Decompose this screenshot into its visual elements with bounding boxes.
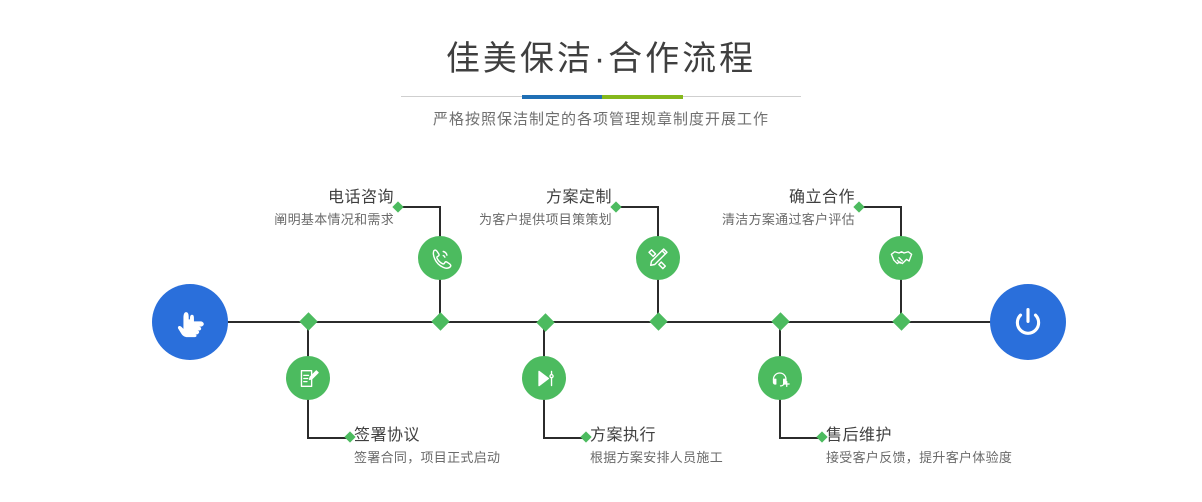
document-sign-icon [296,366,321,391]
connector-horizontal-step-5 [859,206,901,208]
step-node-5[interactable] [879,236,923,280]
play-execute-icon [532,366,557,391]
axis-marker-step-6 [771,312,789,330]
handshake-icon [888,245,915,272]
step-title-3: 方案定制 [350,188,612,208]
axis-marker-step-5 [892,312,910,330]
step-label-3: 方案定制 为客户提供项目策策划 [350,188,612,230]
step-node-1[interactable] [418,236,462,280]
axis-marker-step-2 [299,312,317,330]
connector-horizontal-step-1 [398,206,440,208]
customer-service-add-icon [768,366,793,391]
label-marker-step-5 [853,201,864,212]
flowchart-page: 佳美保洁·合作流程 严格按照保洁制定的各项管理规章制度开展工作 [0,0,1202,502]
title-divider [401,95,801,99]
step-title-5: 确立合作 [590,188,855,208]
step-title-6: 售后维护 [826,426,1126,446]
divider-segment-green [602,95,683,99]
page-title: 佳美保洁·合作流程 [0,0,1202,76]
hand-pointing-icon [169,301,211,343]
connector-horizontal-step-6 [779,437,821,439]
divider-segment-blue [522,95,602,99]
step-desc-6: 接受客户反馈，提升客户体验度 [826,448,1126,468]
axis-marker-step-3 [649,312,667,330]
phone-call-icon [427,245,453,271]
pencil-ruler-icon [645,245,671,271]
axis-marker-step-1 [431,312,449,330]
axis-marker-step-4 [536,313,554,331]
timeline-end-node[interactable] [990,284,1066,360]
connector-horizontal-step-4 [543,437,585,439]
timeline-start-node[interactable] [152,284,228,360]
connector-horizontal-step-3 [616,206,658,208]
step-node-3[interactable] [636,236,680,280]
step-desc-3: 为客户提供项目策策划 [350,210,612,230]
power-icon [1008,302,1048,342]
step-label-5: 确立合作 清洁方案通过客户评估 [590,188,855,230]
step-node-4[interactable] [522,356,566,400]
connector-horizontal-step-2 [307,437,349,439]
step-desc-5: 清洁方案通过客户评估 [590,210,855,230]
step-node-2[interactable] [286,356,330,400]
page-header: 佳美保洁·合作流程 [0,0,1202,76]
page-subtitle: 严格按照保洁制定的各项管理规章制度开展工作 [0,108,1202,129]
step-label-6: 售后维护 接受客户反馈，提升客户体验度 [826,426,1126,468]
step-node-6[interactable] [758,356,802,400]
